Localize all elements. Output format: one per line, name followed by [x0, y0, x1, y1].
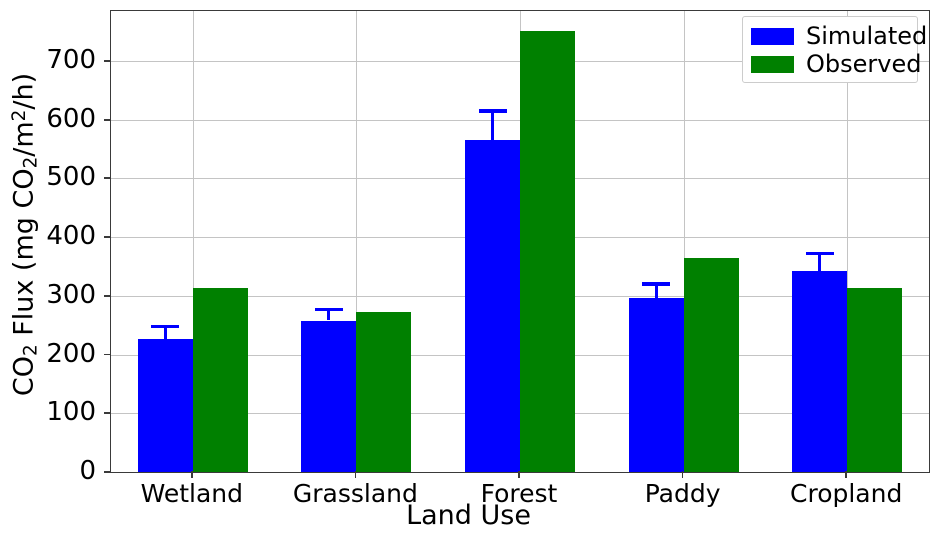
- bar-simulated-wetland: [138, 339, 193, 472]
- y-tick-label: 300: [46, 280, 96, 310]
- error-bar-cap: [479, 109, 507, 113]
- error-bar-line: [491, 109, 494, 140]
- y-tick-mark: [104, 60, 111, 62]
- y-axis-title-text: CO2 Flux (mg CO2/m2/h): [8, 73, 39, 396]
- bar-simulated-paddy: [629, 298, 684, 472]
- y-tick-mark: [104, 295, 111, 297]
- x-tick-mark: [518, 471, 520, 478]
- error-bar-cap: [642, 282, 670, 286]
- x-tick-label: Paddy: [645, 479, 721, 508]
- y-axis-title: CO2 Flux (mg CO2/m2/h): [8, 0, 41, 470]
- legend: Simulated Observed: [742, 16, 918, 83]
- x-tick-label: Cropland: [790, 479, 902, 508]
- bar-observed-cropland: [847, 288, 902, 472]
- x-tick-mark: [845, 471, 847, 478]
- y-tick-mark: [104, 471, 111, 473]
- y-tick-mark: [104, 354, 111, 356]
- bar-simulated-grassland: [301, 321, 356, 473]
- y-tick-label: 600: [46, 104, 96, 134]
- y-tick-label: 0: [79, 456, 96, 486]
- legend-label-simulated: Simulated: [806, 24, 927, 48]
- x-tick-mark: [355, 471, 357, 478]
- bar-simulated-cropland: [792, 271, 847, 472]
- x-tick-label: Forest: [481, 479, 558, 508]
- bar-simulated-forest: [465, 140, 520, 472]
- y-tick-label: 700: [46, 45, 96, 75]
- y-tick-mark: [104, 177, 111, 179]
- bar-chart-figure: CO2 Flux (mg CO2/m2/h) Land Use Simulate…: [0, 0, 937, 540]
- x-tick-label: Grassland: [293, 479, 418, 508]
- y-tick-label: 100: [46, 397, 96, 427]
- y-tick-label: 200: [46, 339, 96, 369]
- y-tick-mark: [104, 412, 111, 414]
- legend-swatch-observed: [751, 56, 794, 73]
- x-tick-label: Wetland: [141, 479, 243, 508]
- error-bar-cap: [315, 308, 343, 312]
- bar-observed-forest: [520, 31, 575, 472]
- bar-observed-grassland: [356, 312, 411, 472]
- legend-label-observed: Observed: [806, 52, 921, 76]
- y-tick-label: 400: [46, 221, 96, 251]
- legend-swatch-simulated: [751, 28, 794, 45]
- bar-observed-wetland: [193, 288, 248, 472]
- x-tick-mark: [682, 471, 684, 478]
- legend-item-simulated: Simulated: [751, 22, 909, 50]
- bar-observed-paddy: [684, 258, 739, 472]
- y-tick-label: 500: [46, 162, 96, 192]
- error-bar-cap: [806, 252, 834, 256]
- y-tick-mark: [104, 236, 111, 238]
- legend-item-observed: Observed: [751, 50, 909, 78]
- x-tick-mark: [191, 471, 193, 478]
- error-bar-cap: [151, 325, 179, 329]
- y-tick-mark: [104, 119, 111, 121]
